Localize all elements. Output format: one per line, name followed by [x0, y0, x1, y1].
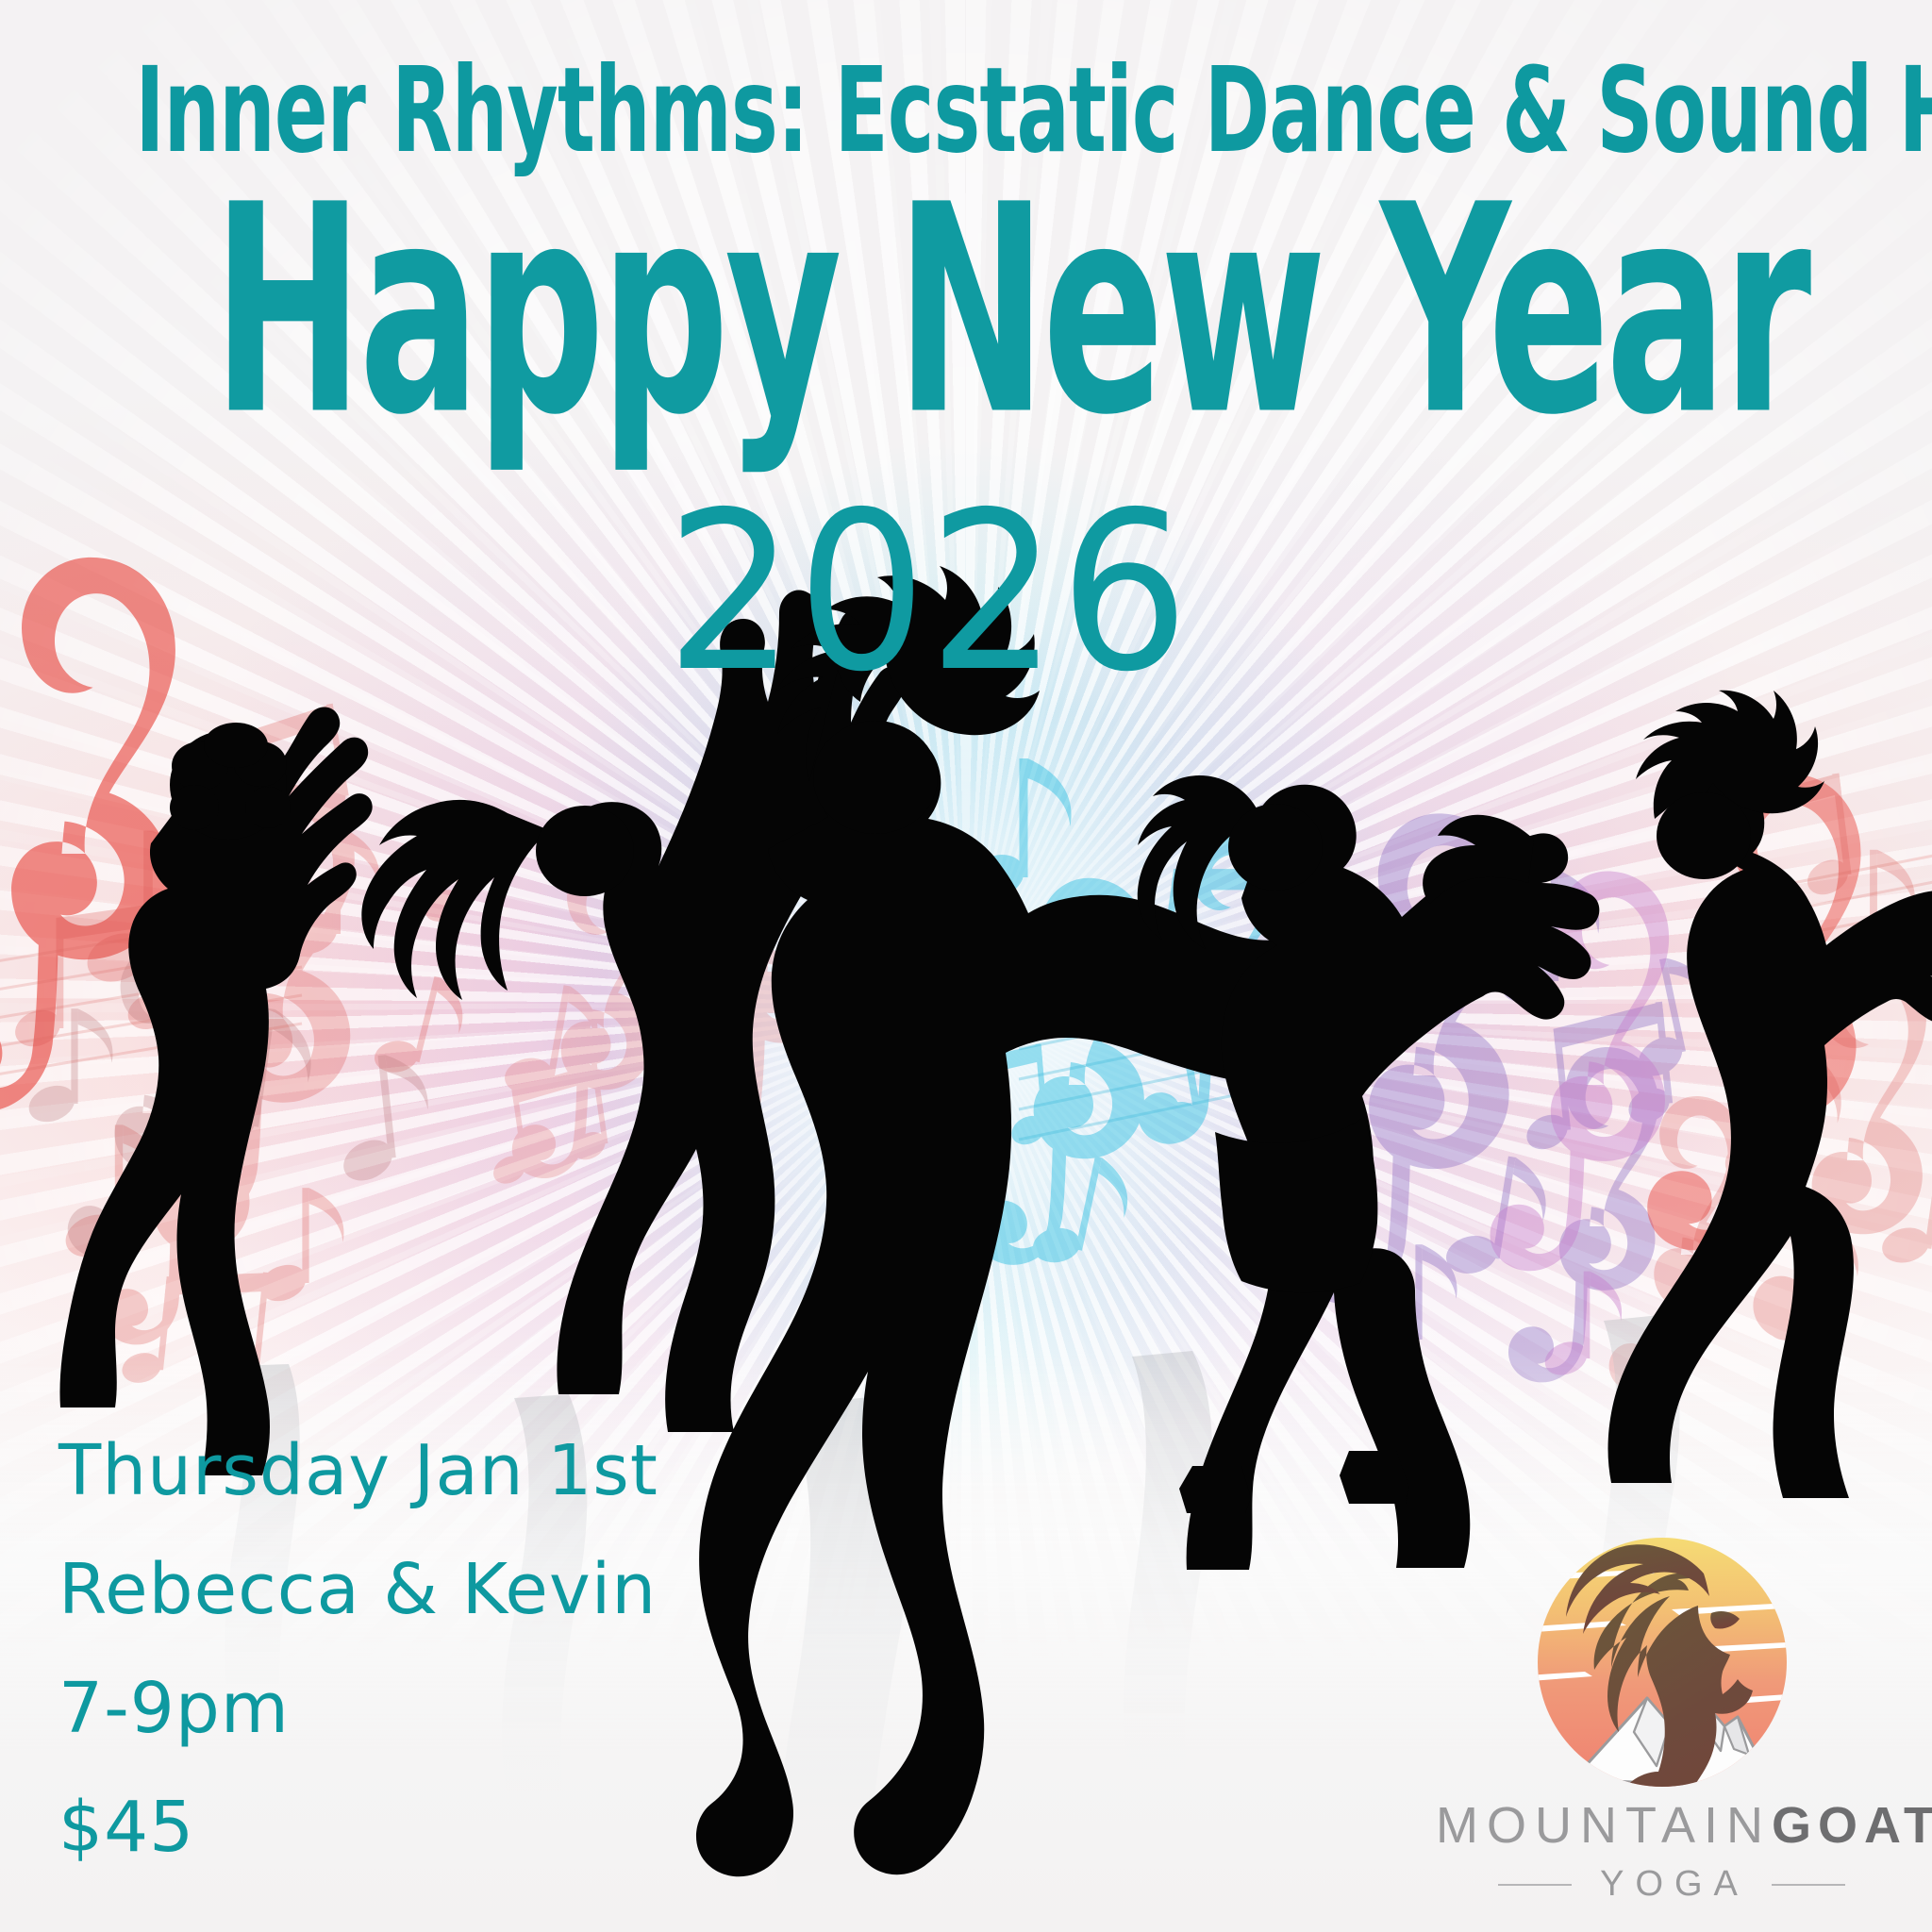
mountain-goat-sun-icon [1536, 1532, 1789, 1792]
detail-price: $45 [58, 1792, 658, 1862]
detail-teachers: Rebecca & Kevin [58, 1555, 658, 1624]
event-details: Thursday Jan 1st Rebecca & Kevin 7-9pm $… [58, 1436, 658, 1862]
logo-word-goat: GOAT [1772, 1797, 1932, 1854]
logo-tagline: YOGA [1594, 1864, 1749, 1905]
brand-logo[interactable]: MOUNTAINGOAT YOGA [1436, 1521, 1907, 1907]
tagline-dash-right [1772, 1884, 1845, 1886]
detail-date: Thursday Jan 1st [58, 1436, 658, 1506]
logo-tagline-row: YOGA [1436, 1864, 1907, 1905]
detail-time: 7-9pm [58, 1674, 658, 1743]
logo-wordmark: MOUNTAINGOAT [1436, 1796, 1907, 1855]
page-title: Happy New Year [212, 168, 1719, 456]
tagline-dash-left [1498, 1884, 1572, 1886]
year-text: 2026 [30, 483, 1827, 702]
logo-word-mountain: MOUNTAIN [1436, 1797, 1772, 1854]
poster-canvas: Inner Rhythms: Ecstatic Dance & Sound He… [0, 0, 1932, 1932]
